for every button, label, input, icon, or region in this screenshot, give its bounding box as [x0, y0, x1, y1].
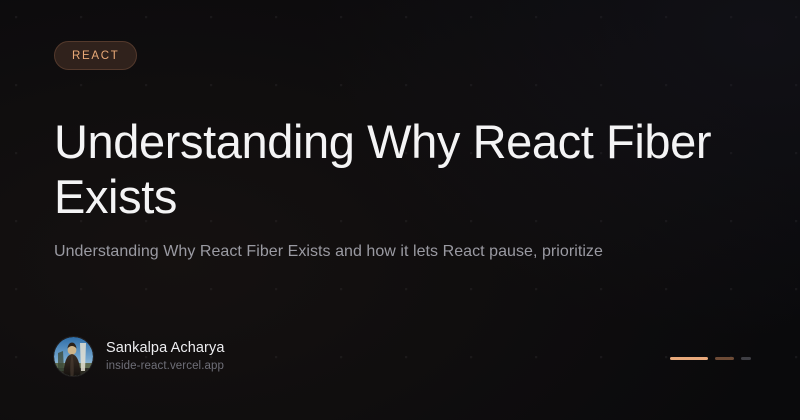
page-subtitle: Understanding Why React Fiber Exists and… [54, 239, 619, 264]
author-text: Sankalpa Acharya inside-react.vercel.app [106, 340, 225, 373]
article-hero-card: REACT Understanding Why React Fiber Exis… [0, 0, 800, 420]
author-row[interactable]: Sankalpa Acharya inside-react.vercel.app [54, 337, 225, 376]
page-title: Understanding Why React Fiber Exists [54, 114, 734, 224]
author-name: Sankalpa Acharya [106, 340, 225, 357]
avatar [54, 337, 93, 376]
avatar-photo-icon [54, 337, 93, 376]
category-badge[interactable]: REACT [54, 41, 137, 70]
category-badge-label: REACT [72, 50, 119, 62]
progress-step-3[interactable] [741, 357, 751, 360]
author-site: inside-react.vercel.app [106, 359, 225, 373]
hero-content: REACT Understanding Why React Fiber Exis… [0, 0, 800, 420]
progress-step-1[interactable] [670, 357, 708, 360]
progress-step-2[interactable] [715, 357, 734, 360]
progress-indicator[interactable] [670, 357, 751, 360]
